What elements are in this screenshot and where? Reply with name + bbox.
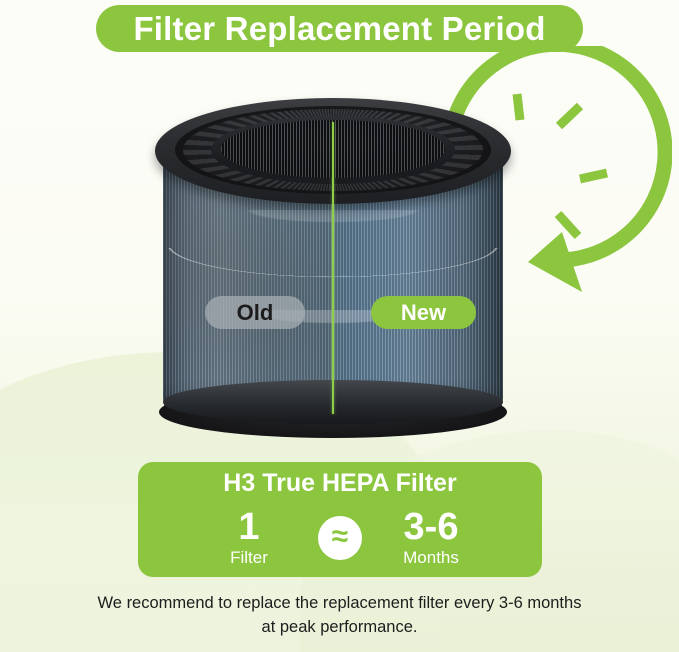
lifespan-caption: Months	[392, 548, 470, 568]
filter-count-caption: Filter	[210, 548, 288, 568]
title-banner: Filter Replacement Period	[96, 5, 583, 52]
page-title: Filter Replacement Period	[133, 12, 545, 45]
filter-info-card: H3 True HEPA Filter 1 Filter ≈ 3-6 Month…	[138, 462, 542, 577]
product-infographic: Filter Replacement Period	[0, 0, 679, 652]
filter-count-stat: 1 Filter	[210, 508, 288, 568]
filter-info-title: H3 True HEPA Filter	[138, 470, 542, 498]
old-new-split-line	[332, 122, 334, 414]
approximately-equal-glyph: ≈	[332, 522, 348, 552]
footer-caption-line1: We recommend to replace the replacement …	[0, 592, 679, 616]
approximately-equal-icon: ≈	[318, 516, 362, 560]
old-badge-label: Old	[237, 302, 274, 324]
lifespan-stat: 3-6 Months	[392, 508, 470, 568]
filter-count-value: 1	[210, 508, 288, 546]
old-badge: Old	[205, 296, 305, 329]
filter-info-stats: 1 Filter ≈ 3-6 Months	[138, 507, 542, 569]
footer-caption-line2: at peak performance.	[0, 616, 679, 640]
footer-caption: We recommend to replace the replacement …	[0, 592, 679, 640]
new-badge-label: New	[401, 302, 446, 324]
new-badge: New	[371, 296, 476, 329]
lifespan-value: 3-6	[392, 508, 470, 546]
hepa-filter-image	[155, 98, 511, 443]
